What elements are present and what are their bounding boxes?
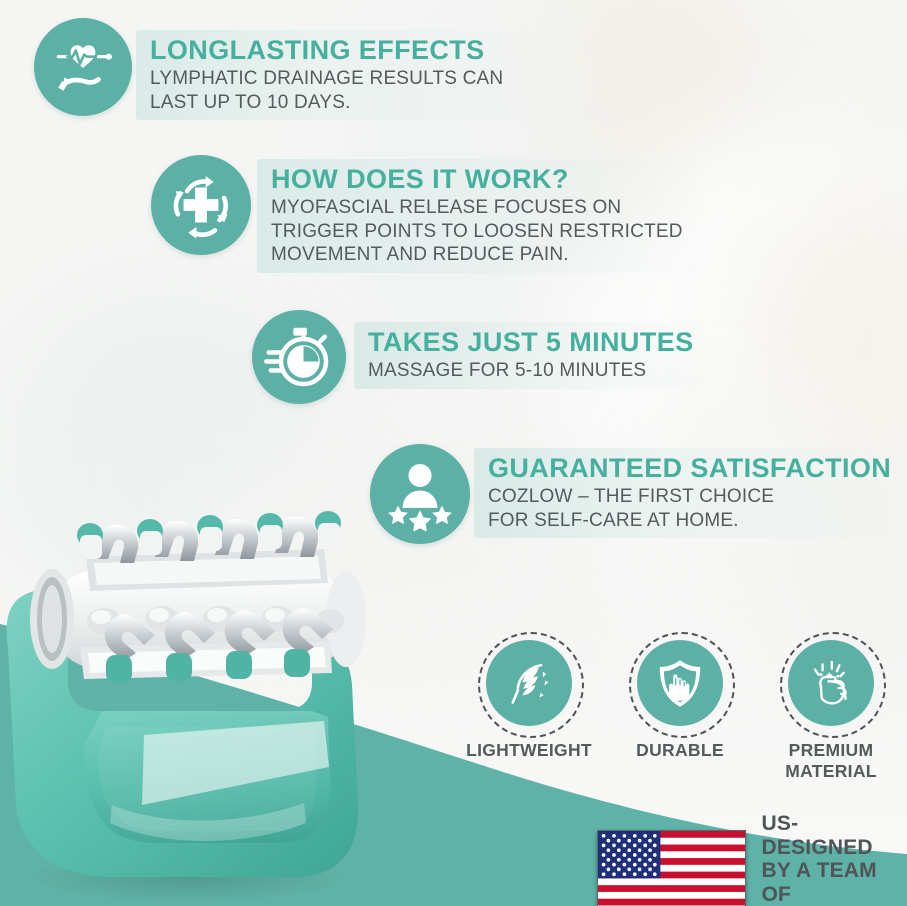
us-flag-icon <box>597 830 746 906</box>
feature-heading: TAKES JUST 5 MINUTES <box>368 328 694 356</box>
badge-durable: DURABLE <box>616 640 744 781</box>
feature-body: MYOFASCIAL RELEASE FOCUSES ON TRIGGER PO… <box>271 196 691 267</box>
heart-pulse-in-hand-icon <box>34 18 132 116</box>
stopwatch-icon <box>252 310 346 404</box>
trust-badges-row: LIGHTWEIGHT DURABLE <box>465 640 895 781</box>
badge-lightweight: LIGHTWEIGHT <box>465 640 593 781</box>
feature-row-guaranteed-satisfaction: GUARANTEED SATISFACTION COZLOW – THE FIR… <box>370 444 891 544</box>
shield-fist-icon <box>637 640 723 726</box>
feature-body: LYMPHATIC DRAINAGE RESULTS CAN LAST UP T… <box>150 67 510 114</box>
badge-label: LIGHTWEIGHT <box>466 740 592 761</box>
feature-heading: LONGLASTING EFFECTS <box>150 36 510 64</box>
us-designed-footer: US-DESIGNED BY A TEAM OF EXPERTS <box>597 812 907 906</box>
snapping-fingers-icon <box>788 640 874 726</box>
dashed-ring <box>478 632 584 738</box>
badge-label: PREMIUM MATERIAL <box>767 740 895 781</box>
footer-line-1: US-DESIGNED <box>762 812 907 859</box>
teal-muscle-roller-product-image <box>0 505 414 905</box>
cycle-arrows-plus-icon <box>151 155 251 255</box>
dashed-ring <box>629 632 735 738</box>
badge-premium-material: PREMIUM MATERIAL <box>767 640 895 781</box>
feather-icon <box>486 640 572 726</box>
feature-heading: HOW DOES IT WORK? <box>271 165 691 193</box>
footer-line-2: BY A TEAM OF <box>762 859 907 906</box>
dashed-ring <box>780 632 886 738</box>
feature-heading: GUARANTEED SATISFACTION <box>488 454 891 482</box>
infographic-canvas: LONGLASTING EFFECTS LYMPHATIC DRAINAGE R… <box>0 0 907 906</box>
feature-body: MASSAGE FOR 5-10 MINUTES <box>368 359 694 383</box>
feature-row-takes-just-5-minutes: TAKES JUST 5 MINUTES MASSAGE FOR 5-10 MI… <box>252 310 694 404</box>
feature-row-longlasting-effects: LONGLASTING EFFECTS LYMPHATIC DRAINAGE R… <box>34 18 510 116</box>
badge-label: DURABLE <box>636 740 724 761</box>
feature-body: COZLOW – THE FIRST CHOICE FOR SELF-CARE … <box>488 485 818 532</box>
feature-row-how-does-it-work: HOW DOES IT WORK? MYOFASCIAL RELEASE FOC… <box>151 155 691 267</box>
